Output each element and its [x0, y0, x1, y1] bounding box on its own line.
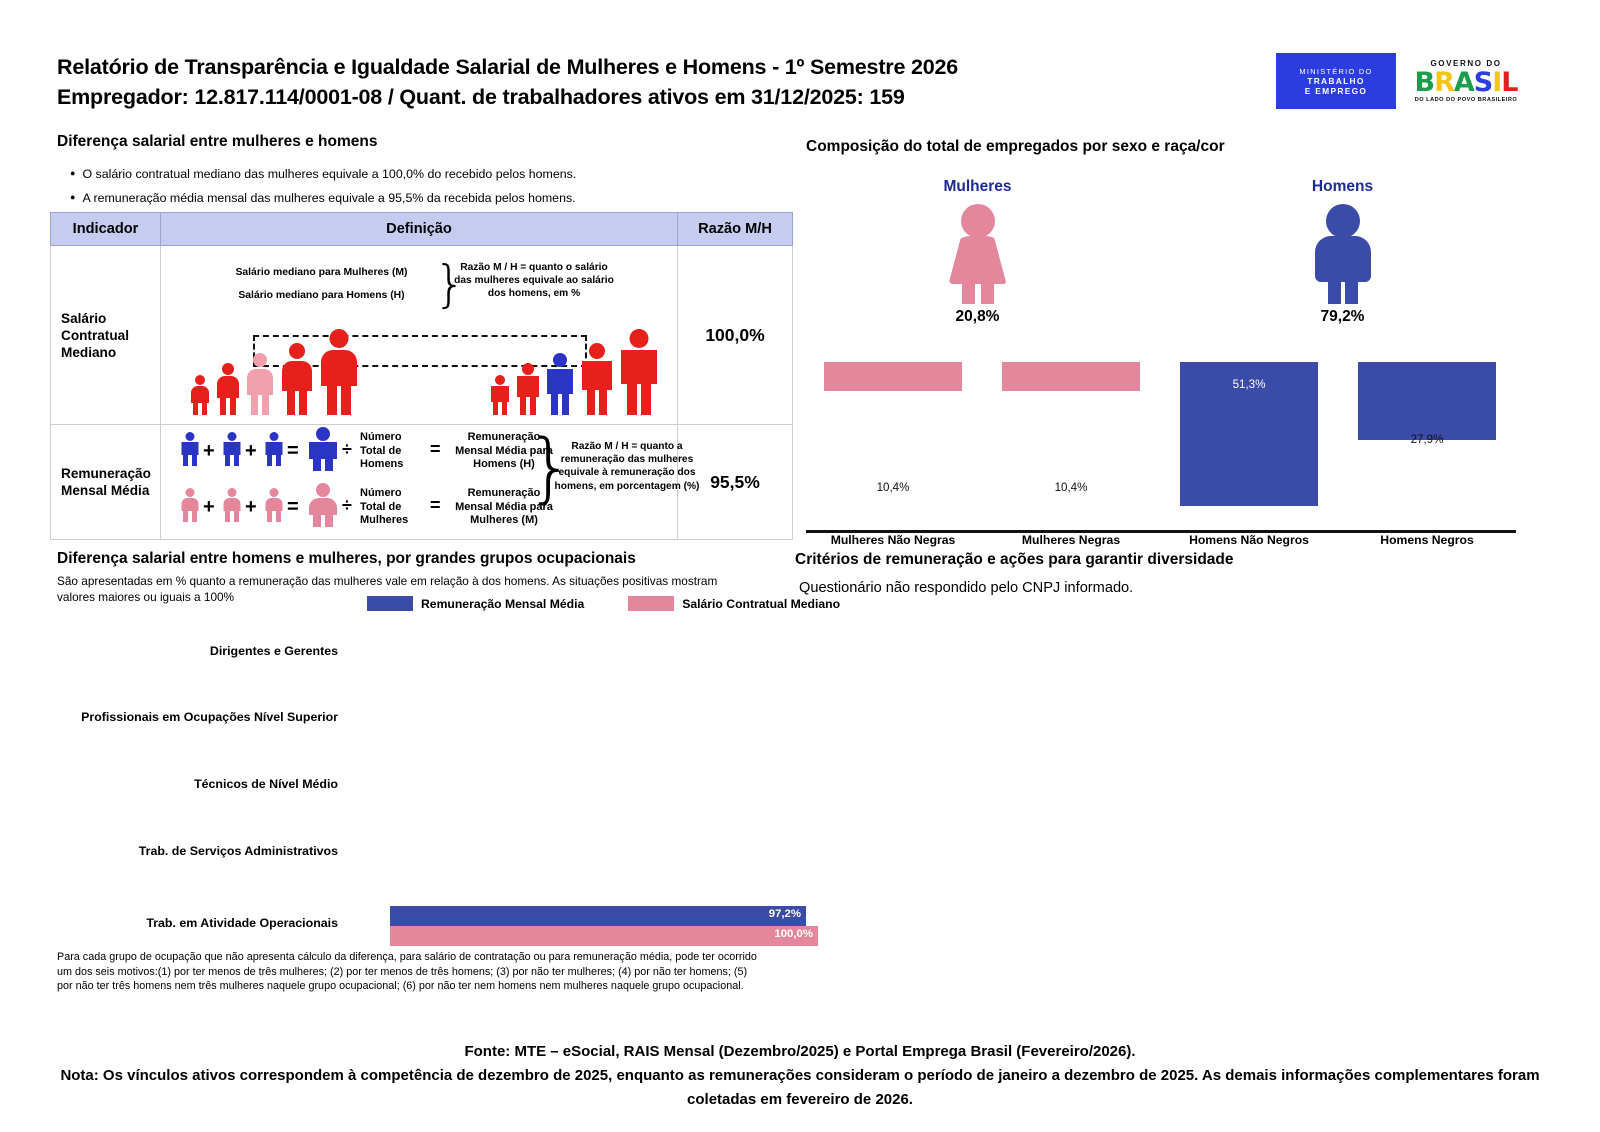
th-razao: Razão M/H — [678, 213, 793, 246]
male-icon-sum-1 — [180, 432, 200, 466]
occ-label-operacionais: Trab. em Atividade Operacionais — [146, 916, 338, 930]
logo-brasil-slogan: DO LADO DO POVO BRASILEIRO — [1415, 97, 1518, 103]
legend-swatch-median — [628, 596, 674, 611]
table-row-median-salary: Salário Contratual Mediano Salário media… — [51, 246, 793, 425]
legend-label-average: Remuneração Mensal Média — [421, 597, 584, 611]
cat-label-homens-nao-negros: Homens Não Negros — [1170, 533, 1328, 547]
equals-sign-4: = — [430, 495, 441, 516]
bar-label-homens-negros: 27,9% — [1358, 433, 1496, 446]
women-total-label: Número Total de Mulheres — [360, 487, 426, 528]
divide-sign-2: ÷ — [342, 495, 352, 516]
table-header-row: Indicador Definição Razão M/H — [51, 213, 793, 246]
female-icon-sum-1 — [180, 488, 200, 522]
female-pictogram-icon — [943, 204, 1013, 304]
male-icon-sum-2 — [222, 432, 242, 466]
report-header: Relatório de Transparência e Igualdade S… — [57, 52, 1237, 112]
male-figure-3-median — [546, 353, 574, 415]
occ-row-profissionais: Profissionais em Ocupações Nível Superio… — [50, 704, 790, 756]
bar-mulheres-nao-negras: 10,4% — [824, 362, 962, 530]
occupational-legend: Remuneração Mensal Média Salário Contrat… — [367, 596, 840, 611]
indicator-table: Indicador Definição Razão M/H Salário Co… — [50, 212, 793, 540]
report-page: Relatório de Transparência e Igualdade S… — [0, 0, 1600, 1132]
occ-label-tecnicos: Técnicos de Nível Médio — [194, 777, 338, 791]
occupational-note: Para cada grupo de ocupação que não apre… — [57, 950, 757, 994]
occ-bar-median-operacionais: 100,0% — [390, 926, 818, 946]
report-title-line1: Relatório de Transparência e Igualdade S… — [57, 52, 1237, 82]
definition-median-salary: Salário mediano para Mulheres (M) Salári… — [161, 246, 678, 425]
occ-row-dirigentes: Dirigentes e Gerentes — [50, 638, 790, 690]
female-icon-sum-2 — [222, 488, 242, 522]
female-figure-2 — [216, 363, 240, 415]
occupational-title: Diferença salarial entre homens e mulher… — [57, 550, 636, 568]
occ-row-administrativos: Trab. de Serviços Administrativos — [50, 838, 790, 890]
th-definicao: Definição — [161, 213, 678, 246]
footer-source: Fonte: MTE – eSocial, RAIS Mensal (Dezem… — [60, 1040, 1540, 1064]
male-icon-total — [308, 427, 338, 471]
race-sex-bar-chart: 10,4% 10,4% 51,3% 27,9% — [806, 362, 1516, 530]
cat-label-mulheres-negras: Mulheres Negras — [992, 533, 1150, 547]
footer-note: Nota: Os vínculos ativos correspondem à … — [60, 1064, 1540, 1112]
cat-label-homens-negros: Homens Negros — [1348, 533, 1506, 547]
occ-bar-average-operacionais: 97,2% — [390, 906, 806, 926]
male-figure-1 — [490, 375, 510, 415]
women-percentage: 20,8% — [905, 308, 1050, 326]
plus-sign-3: + — [203, 496, 215, 519]
table-row-average-remuneration: Remuneração Mensal Média + — [51, 425, 793, 540]
logo-mte-line1: MINISTÉRIO DO — [1299, 67, 1372, 76]
salary-gap-bullets: O salário contratual mediano das mulhere… — [70, 162, 770, 210]
composition-men-block: Homens 79,2% — [1270, 178, 1415, 326]
plus-sign-2: + — [245, 440, 257, 463]
occ-row-tecnicos: Técnicos de Nível Médio — [50, 771, 790, 823]
occ-label-dirigentes: Dirigentes e Gerentes — [210, 644, 338, 658]
bar-label-mulheres-negras: 10,4% — [1002, 481, 1140, 494]
median-ratio-explanation: Razão M / H = quanto o salário das mulhe… — [454, 261, 614, 301]
occ-row-operacionais: Trab. em Atividade Operacionais 97,2% 10… — [50, 894, 790, 946]
logo-mte-line2: TRABALHO — [1307, 76, 1364, 86]
indicator-average-remuneration: Remuneração Mensal Média — [51, 425, 161, 540]
male-icon-sum-3 — [264, 432, 284, 466]
government-of-brazil-logo: GOVERNO DO BRASIL DO LADO DO POVO BRASIL… — [1404, 53, 1528, 109]
equals-sign-2: = — [430, 439, 441, 460]
median-def-line2: Salário mediano para Homens (H) — [214, 284, 429, 307]
men-total-label: Número Total de Homens — [360, 431, 426, 472]
ministry-of-labor-logo: MINISTÉRIO DO TRABALHO E EMPREGO — [1276, 53, 1396, 109]
plus-sign-4: + — [245, 496, 257, 519]
equals-sign-1: = — [287, 440, 299, 463]
salary-gap-title: Diferença salarial entre mulheres e home… — [57, 133, 377, 151]
composition-title: Composição do total de empregados por se… — [806, 138, 1225, 156]
women-label: Mulheres — [905, 178, 1050, 196]
bullet-median: O salário contratual mediano das mulhere… — [70, 162, 770, 186]
th-indicador: Indicador — [51, 213, 161, 246]
female-icon-total — [308, 483, 338, 527]
female-icon-sum-3 — [264, 488, 284, 522]
equals-sign-3: = — [287, 496, 299, 519]
bar-label-mulheres-nao-negras: 10,4% — [824, 481, 962, 494]
bar-label-homens-nao-negros: 51,3% — [1180, 378, 1318, 391]
ratio-median-salary: 100,0% — [678, 246, 793, 425]
logo-brasil-wordmark: BRASIL — [1414, 69, 1517, 96]
median-def-line1: Salário mediano para Mulheres (M) — [214, 261, 429, 284]
bar-homens-negros: 27,9% — [1358, 362, 1496, 530]
male-pictogram-icon — [1308, 204, 1378, 304]
plus-sign-1: + — [203, 440, 215, 463]
men-percentage: 79,2% — [1270, 308, 1415, 326]
occ-label-profissionais: Profissionais em Ocupações Nível Superio… — [81, 710, 338, 724]
male-figure-4 — [581, 343, 613, 415]
female-figure-5 — [320, 329, 358, 415]
male-figure-5 — [620, 329, 658, 415]
remuneration-ratio-explanation: Razão M / H = quanto a remuneração das m… — [547, 440, 707, 493]
occ-bar-value-median: 100,0% — [774, 928, 813, 940]
indicator-median-salary: Salário Contratual Mediano — [51, 246, 161, 425]
bullet-average: A remuneração média mensal das mulheres … — [70, 186, 770, 210]
legend-label-median: Salário Contratual Mediano — [682, 597, 840, 611]
female-figure-4 — [281, 343, 313, 415]
criteria-title: Critérios de remuneração e ações para ga… — [795, 551, 1234, 569]
occupational-chart: Dirigentes e Gerentes Profissionais em O… — [50, 630, 790, 940]
report-title-line2: Empregador: 12.817.114/0001-08 / Quant. … — [57, 82, 1237, 112]
cat-label-mulheres-nao-negras: Mulheres Não Negras — [814, 533, 972, 547]
median-definition-lines: Salário mediano para Mulheres (M) Salári… — [214, 261, 429, 307]
occ-label-administrativos: Trab. de Serviços Administrativos — [139, 844, 338, 858]
report-footer: Fonte: MTE – eSocial, RAIS Mensal (Dezem… — [60, 1040, 1540, 1112]
legend-swatch-average — [367, 596, 413, 611]
composition-women-block: Mulheres 20,8% — [905, 178, 1050, 326]
male-figure-2 — [516, 363, 540, 415]
female-figure-1 — [190, 375, 210, 415]
logo-group: MINISTÉRIO DO TRABALHO E EMPREGO GOVERNO… — [1276, 53, 1528, 109]
divide-sign-1: ÷ — [342, 439, 352, 460]
female-figure-3-median — [246, 353, 274, 415]
occ-bar-value-average: 97,2% — [769, 908, 801, 920]
bar-homens-nao-negros: 51,3% — [1180, 362, 1318, 530]
definition-average-remuneration: + + — [161, 425, 678, 540]
criteria-text: Questionário não respondido pelo CNPJ in… — [799, 580, 1133, 596]
median-people-diagram — [172, 325, 672, 415]
men-label: Homens — [1270, 178, 1415, 196]
logo-mte-line3: E EMPREGO — [1305, 86, 1367, 96]
bar-mulheres-negras: 10,4% — [1002, 362, 1140, 530]
